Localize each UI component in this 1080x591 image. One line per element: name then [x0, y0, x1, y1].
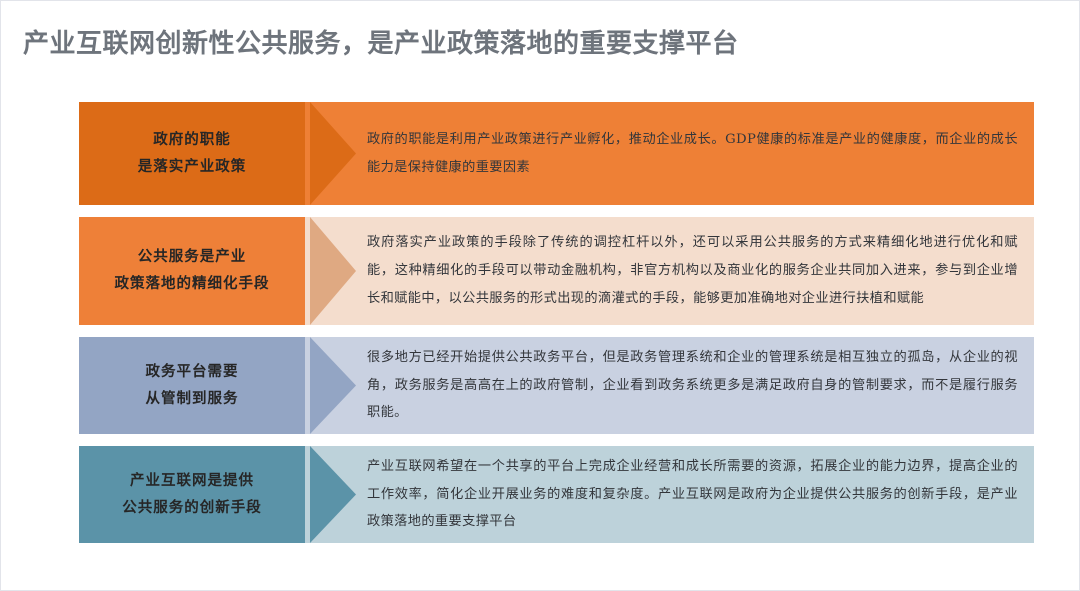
- process-row-list: 政府的职能 是落实产业政策 政府的职能是利用产业政策进行产业孵化，推动企业成长。…: [79, 102, 1034, 555]
- row-body-gov-platform[interactable]: 很多地方已经开始提供公共政务平台，但是政务管理系统和企业的管理系统是相互独立的孤…: [305, 337, 1034, 434]
- row-body-public-service[interactable]: 政府落实产业政策的手段除了传统的调控杠杆以外，还可以采用公共服务的方式来精细化地…: [305, 217, 1034, 325]
- row-label-box-government-function[interactable]: 政府的职能 是落实产业政策: [79, 102, 305, 205]
- chevron-right-icon: [310, 446, 356, 543]
- chevron-right-icon: [310, 337, 356, 434]
- row-body-government-function[interactable]: 政府的职能是利用产业政策进行产业孵化，推动企业成长。GDP健康的标准是产业的健康…: [305, 102, 1034, 205]
- slide-canvas: 产业互联网创新性公共服务，是产业政策落地的重要支撑平台 政府的职能 是落实产业政…: [0, 0, 1080, 591]
- row-label-box-public-service[interactable]: 公共服务是产业 政策落地的精细化手段: [79, 217, 305, 325]
- chevron-right-icon: [310, 217, 356, 325]
- row-body-industrial-internet[interactable]: 产业互联网希望在一个共享的平台上完成企业经营和成长所需要的资源，拓展企业的能力边…: [305, 446, 1034, 543]
- row-body-text: 很多地方已经开始提供公共政务平台，但是政务管理系统和企业的管理系统是相互独立的孤…: [367, 344, 1018, 427]
- process-row: 政府的职能 是落实产业政策 政府的职能是利用产业政策进行产业孵化，推动企业成长。…: [79, 102, 1034, 205]
- row-body-text: 产业互联网希望在一个共享的平台上完成企业经营和成长所需要的资源，拓展企业的能力边…: [367, 453, 1018, 536]
- row-label-text: 政务平台需要 从管制到服务: [146, 359, 239, 413]
- row-label-text: 产业互联网是提供 公共服务的创新手段: [122, 468, 262, 522]
- row-body-text: 政府落实产业政策的手段除了传统的调控杠杆以外，还可以采用公共服务的方式来精细化地…: [367, 229, 1018, 312]
- row-body-text: 政府的职能是利用产业政策进行产业孵化，推动企业成长。GDP健康的标准是产业的健康…: [367, 126, 1018, 181]
- row-label-text: 政府的职能 是落实产业政策: [138, 127, 247, 181]
- process-row: 政务平台需要 从管制到服务 很多地方已经开始提供公共政务平台，但是政务管理系统和…: [79, 337, 1034, 434]
- process-row: 产业互联网是提供 公共服务的创新手段 产业互联网希望在一个共享的平台上完成企业经…: [79, 446, 1034, 543]
- chevron-right-icon: [310, 102, 356, 205]
- row-label-box-industrial-internet[interactable]: 产业互联网是提供 公共服务的创新手段: [79, 446, 305, 543]
- row-label-box-gov-platform[interactable]: 政务平台需要 从管制到服务: [79, 337, 305, 434]
- page-title: 产业互联网创新性公共服务，是产业政策落地的重要支撑平台: [23, 23, 739, 60]
- row-label-text: 公共服务是产业 政策落地的精细化手段: [115, 244, 270, 298]
- process-row: 公共服务是产业 政策落地的精细化手段 政府落实产业政策的手段除了传统的调控杠杆以…: [79, 217, 1034, 325]
